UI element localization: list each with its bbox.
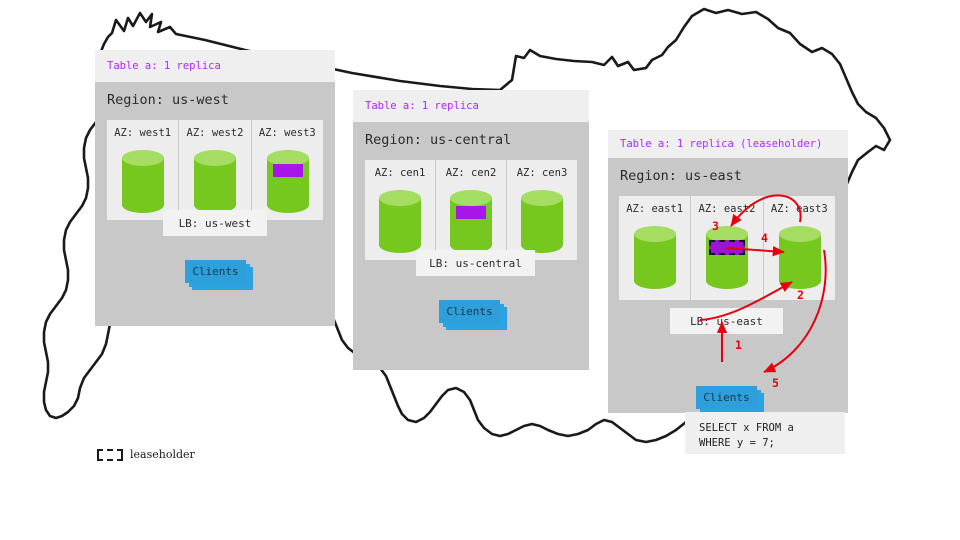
replica-marker-west3[interactable] (273, 164, 303, 177)
region-title: Region: us-west (107, 92, 229, 108)
panel-body-us-east: Region: us-east AZ: east1 AZ: east2 (608, 158, 848, 413)
legend: leaseholder (97, 448, 195, 461)
az-cell-west1[interactable]: AZ: west1 (107, 120, 178, 220)
arrow-label-2: 2 (797, 288, 804, 302)
replica-marker-east2-leaseholder[interactable] (709, 240, 745, 255)
az-label: AZ: cen3 (507, 167, 577, 179)
az-label: AZ: east2 (691, 203, 762, 215)
replica-marker-cen2[interactable] (456, 206, 486, 219)
node-cylinder-east2[interactable] (706, 226, 748, 289)
panel-body-us-central: Region: us-central AZ: cen1 AZ: cen2 (353, 122, 589, 370)
panel-header-label: Table a: 1 replica (107, 60, 221, 72)
load-balancer-us-west[interactable]: LB: us-west (163, 210, 267, 236)
lb-label: LB: us-west (179, 217, 252, 230)
clients-sheet-front[interactable]: Clients (185, 260, 246, 283)
az-label: AZ: west3 (252, 127, 323, 139)
cylinder-top (779, 226, 821, 242)
arrow-label-1: 1 (735, 338, 742, 352)
sql-query-callout: SELECT x FROM a WHERE y = 7; (685, 412, 845, 454)
dashed-rect-icon (97, 449, 123, 461)
legend-label: leaseholder (130, 448, 195, 461)
panel-header-us-central: Table a: 1 replica (353, 90, 589, 122)
arrow-label-3: 3 (712, 219, 719, 233)
load-balancer-us-east[interactable]: LB: us-east (670, 308, 783, 334)
panel-header-label: Table a: 1 replica (365, 100, 479, 112)
panel-body-us-west: Region: us-west AZ: west1 AZ: west2 (95, 82, 335, 326)
diagram-canvas: Table a: 1 replica Region: us-west AZ: w… (0, 0, 960, 540)
az-label: AZ: west2 (179, 127, 250, 139)
node-cylinder-west3[interactable] (267, 150, 309, 213)
region-title: Region: us-east (620, 168, 742, 184)
az-cell-cen1[interactable]: AZ: cen1 (365, 160, 435, 260)
clients-label: Clients (703, 391, 749, 404)
lb-label: LB: us-east (690, 315, 763, 328)
az-label: AZ: east1 (619, 203, 690, 215)
panel-header-label: Table a: 1 replica (leaseholder) (620, 138, 822, 150)
cylinder-top (634, 226, 676, 242)
lb-label: LB: us-central (429, 257, 522, 270)
az-strip-us-west: AZ: west1 AZ: west2 AZ (107, 120, 323, 220)
cylinder-top (379, 190, 421, 206)
az-strip-us-east: AZ: east1 AZ: east2 (619, 196, 835, 300)
panel-header-us-west: Table a: 1 replica (95, 50, 335, 82)
az-label: AZ: cen2 (436, 167, 506, 179)
load-balancer-us-central[interactable]: LB: us-central (416, 250, 535, 276)
node-cylinder-east3[interactable] (779, 226, 821, 289)
clients-stack-us-central[interactable]: Clients (439, 300, 507, 330)
region-title: Region: us-central (365, 132, 511, 148)
great-lakes-path (612, 57, 652, 70)
arrow-label-5: 5 (772, 376, 779, 390)
arrow-label-4: 4 (761, 231, 768, 245)
az-cell-east2[interactable]: AZ: east2 (690, 196, 762, 300)
node-cylinder-cen2[interactable] (450, 190, 492, 253)
az-cell-east3[interactable]: AZ: east3 (763, 196, 835, 300)
az-cell-west3[interactable]: AZ: west3 (251, 120, 323, 220)
panel-header-us-east: Table a: 1 replica (leaseholder) (608, 130, 848, 158)
az-cell-cen2[interactable]: AZ: cen2 (435, 160, 506, 260)
cylinder-top (521, 190, 563, 206)
clients-stack-us-west[interactable]: Clients (185, 260, 253, 290)
cylinder-top (450, 190, 492, 206)
node-cylinder-cen1[interactable] (379, 190, 421, 253)
node-cylinder-cen3[interactable] (521, 190, 563, 253)
clients-label: Clients (192, 265, 238, 278)
az-label: AZ: east3 (764, 203, 835, 215)
cylinder-top (122, 150, 164, 166)
az-cell-east1[interactable]: AZ: east1 (619, 196, 690, 300)
node-cylinder-east1[interactable] (634, 226, 676, 289)
az-cell-cen3[interactable]: AZ: cen3 (506, 160, 577, 260)
clients-sheet-front[interactable]: Clients (439, 300, 500, 323)
node-cylinder-west1[interactable] (122, 150, 164, 213)
region-panel-us-central: Table a: 1 replica Region: us-central AZ… (353, 90, 589, 370)
az-strip-us-central: AZ: cen1 AZ: cen2 (365, 160, 577, 260)
clients-label: Clients (446, 305, 492, 318)
region-panel-us-west: Table a: 1 replica Region: us-west AZ: w… (95, 50, 335, 326)
az-label: AZ: cen1 (365, 167, 435, 179)
az-cell-west2[interactable]: AZ: west2 (178, 120, 250, 220)
region-panel-us-east: Table a: 1 replica (leaseholder) Region:… (608, 130, 848, 413)
clients-sheet-front[interactable]: Clients (696, 386, 757, 409)
node-cylinder-west2[interactable] (194, 150, 236, 213)
az-label: AZ: west1 (107, 127, 178, 139)
